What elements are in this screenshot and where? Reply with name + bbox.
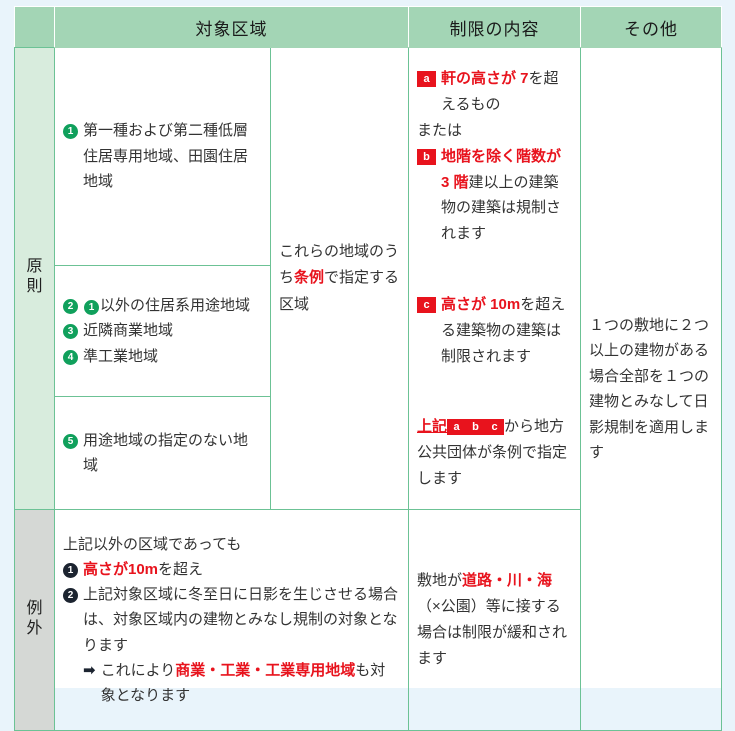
area-item-label: 第一種および第二種低層住居専用地域、田園住居地域 bbox=[83, 118, 262, 195]
area-item-2-text: 以外の住居系用途地域 bbox=[100, 297, 250, 314]
badge-a-inline: a bbox=[447, 419, 466, 435]
exception-lead-text: 上記以外の区域であっても bbox=[63, 532, 400, 557]
arrow-note-pre: これにより bbox=[101, 662, 176, 679]
arrow-note-red: 商業・工業・工業専用地域 bbox=[175, 662, 355, 679]
area-item-label: 近隣商業地域 bbox=[83, 318, 262, 344]
list-item: 4 準工業地域 bbox=[63, 344, 262, 370]
exception-arrow-note: ➡ これにより商業・工業・工業専用地域も対象となります bbox=[63, 658, 400, 708]
row-label-exception: 例 外 bbox=[15, 510, 55, 731]
restriction-cell-designate: 上記abcから地方公共団体が条例で指定します bbox=[409, 397, 581, 510]
area-cell-block-1: 1 第一種および第二種低層住居専用地域、田園住居地域 bbox=[55, 48, 271, 266]
exception-item-1: 1 高さが10mを超え bbox=[63, 557, 400, 582]
exception-restriction-text: 敷地が道路・川・海（×公園）等に接する場合は制限が緩和されます bbox=[417, 568, 572, 671]
area-item-label: 1以外の住居系用途地域 bbox=[83, 293, 262, 319]
number-badge-2-dark: 2 bbox=[63, 582, 78, 607]
badge-b-label: b bbox=[417, 149, 436, 165]
number-badge-1-dark: 1 bbox=[63, 557, 78, 582]
restriction-item-c: c 高さが 10mを超える建築物の建築は制限されます bbox=[417, 292, 572, 369]
inline-number-badge-1: 1 bbox=[84, 300, 99, 315]
badge-c-label: c bbox=[417, 297, 436, 313]
arrow-right-icon: ➡ bbox=[83, 658, 96, 683]
exception-item-2-text: 上記対象区域に冬至日に日影を生じさせる場合は、対象区域内の建物とみなし規制の対象… bbox=[83, 582, 400, 658]
exception-restriction-pre: 敷地が bbox=[417, 572, 462, 589]
restriction-item-b: b 地階を除く階数が 3 階建以上の建築物の建築は規制されます bbox=[417, 144, 572, 247]
other-cell-general: １つの敷地に２つ以上の建物がある場合全部を１つの建物とみなして日影規制を適用しま… bbox=[581, 48, 722, 731]
restriction-item-a: a 軒の高さが 7を超えるもの bbox=[417, 66, 572, 118]
header-target-area: 対象区域 bbox=[55, 7, 409, 48]
exception-arrow-text: これにより商業・工業・工業専用地域も対象となります bbox=[101, 658, 400, 708]
badge-c-icon: c bbox=[417, 292, 436, 318]
list-item: 1 第一種および第二種低層住居専用地域、田園住居地域 bbox=[63, 118, 262, 195]
header-corner-blank bbox=[15, 7, 55, 48]
restriction-a-red: 軒の高さが 7 bbox=[441, 70, 529, 87]
designation-text: 上記abcから地方公共団体が条例で指定します bbox=[417, 414, 572, 491]
number-badge-3: 3 bbox=[63, 318, 78, 344]
number-badge-1: 1 bbox=[63, 118, 78, 144]
restriction-a-text: 軒の高さが 7を超えるもの bbox=[441, 66, 572, 118]
exception-restriction-cell: 敷地が道路・川・海（×公園）等に接する場合は制限が緩和されます bbox=[409, 510, 581, 731]
restriction-connector: または bbox=[417, 118, 572, 144]
row-label-general: 原 則 bbox=[15, 48, 55, 510]
regulation-table: 対象区域 制限の内容 その他 原 則 1 第一種および第二種低層住居専用地域、田… bbox=[14, 6, 722, 731]
row-label-general-char-1: 原 bbox=[26, 257, 42, 277]
row-label-exception-char-2: 外 bbox=[26, 619, 42, 639]
number-badge-5: 5 bbox=[63, 428, 78, 454]
area-cell-block-2: 2 1以外の住居系用途地域 3 近隣商業地域 4 準工業地域 bbox=[55, 266, 271, 397]
badge-a-icon: a bbox=[417, 66, 436, 92]
number-badge-4: 4 bbox=[63, 344, 78, 370]
row-label-exception-char-1: 例 bbox=[26, 599, 42, 619]
badge-a-label: a bbox=[417, 71, 436, 87]
badge-b-inline: b bbox=[466, 419, 485, 435]
list-item: 5 用途地域の指定のない地域 bbox=[63, 428, 262, 479]
exception-restriction-post: （×公園）等に接する場合は制限が緩和されます bbox=[417, 598, 567, 667]
header-restriction-content: 制限の内容 bbox=[409, 7, 581, 48]
exception-item-2: 2 上記対象区域に冬至日に日影を生じさせる場合は、対象区域内の建物とみなし規制の… bbox=[63, 582, 400, 658]
exception-restriction-red: 道路・川・海 bbox=[462, 572, 552, 589]
zone-text-highlight: 条例 bbox=[294, 269, 324, 286]
area-cell-block-3: 5 用途地域の指定のない地域 bbox=[55, 397, 271, 510]
exception-area-cell: 上記以外の区域であっても 1 高さが10mを超え 2 上記対象区域に冬至日に日影… bbox=[55, 510, 409, 731]
shade-regulation-table: 対象区域 制限の内容 その他 原 則 1 第一種および第二種低層住居専用地域、田… bbox=[14, 6, 721, 688]
list-item: 2 1以外の住居系用途地域 bbox=[63, 293, 262, 319]
restriction-cell-ab: a 軒の高さが 7を超えるもの または b 地階を除く階数が 3 階建以上の建築… bbox=[409, 48, 581, 266]
number-badge-2: 2 bbox=[63, 293, 78, 319]
designation-prefix: 上記 bbox=[417, 418, 447, 435]
area-item-label: 用途地域の指定のない地域 bbox=[83, 428, 262, 479]
exception-item-1-rest: を超え bbox=[158, 561, 203, 578]
header-other: その他 bbox=[581, 7, 722, 48]
area-item-label: 準工業地域 bbox=[83, 344, 262, 370]
badge-c-inline: c bbox=[485, 419, 504, 435]
zone-designation-cell: これらの地域のうち条例で指定する区域 bbox=[271, 48, 409, 510]
general-row-1: 原 則 1 第一種および第二種低層住居専用地域、田園住居地域 これらの地域のうち… bbox=[15, 48, 722, 266]
restriction-c-text: 高さが 10mを超える建築物の建築は制限されます bbox=[441, 292, 572, 369]
exception-item-1-red: 高さが10m bbox=[83, 561, 158, 578]
list-item: 3 近隣商業地域 bbox=[63, 318, 262, 344]
restriction-b-text: 地階を除く階数が 3 階建以上の建築物の建築は規制されます bbox=[441, 144, 572, 247]
restriction-cell-c: c 高さが 10mを超える建築物の建築は制限されます bbox=[409, 266, 581, 397]
zone-designation-text: これらの地域のうち条例で指定する区域 bbox=[279, 239, 400, 318]
exception-item-1-text: 高さが10mを超え bbox=[83, 557, 400, 582]
restriction-c-red: 高さが 10m bbox=[441, 296, 520, 313]
table-header-row: 対象区域 制限の内容 その他 bbox=[15, 7, 722, 48]
badge-b-icon: b bbox=[417, 144, 436, 170]
row-label-general-char-2: 則 bbox=[26, 277, 42, 297]
